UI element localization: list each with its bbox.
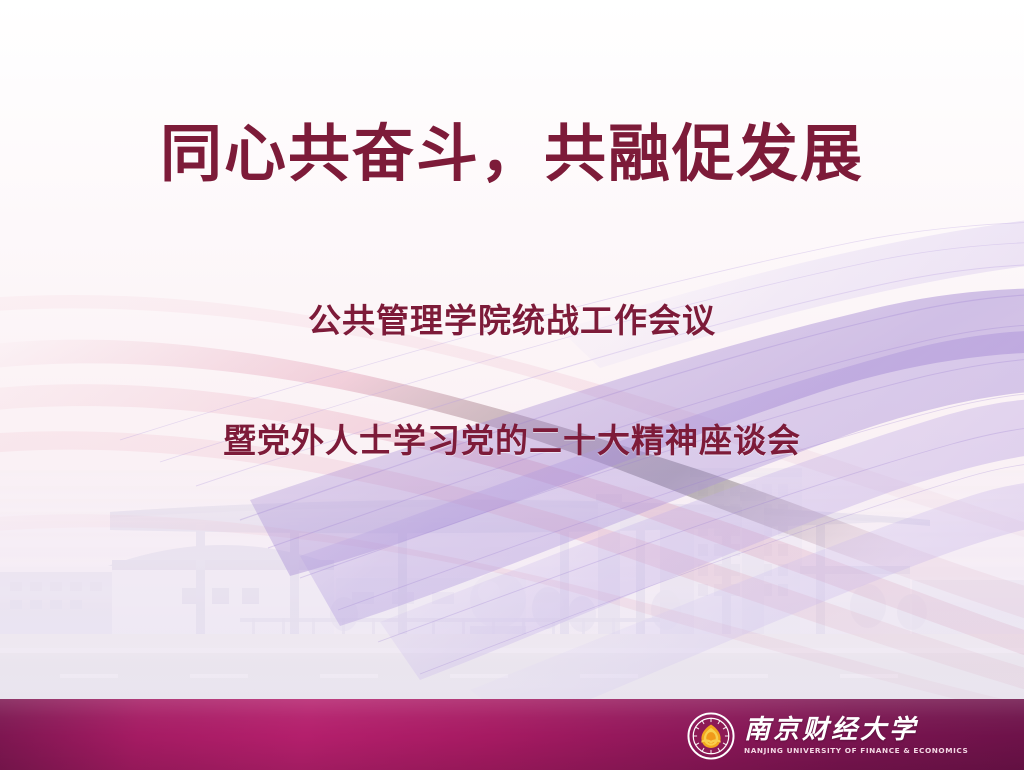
- university-logo: 南京财经大学 NANJING UNIVERSITY OF FINANCE & E…: [687, 709, 964, 763]
- purple-ribbon-decoration: [0, 0, 1024, 770]
- subtitle-secondary: 暨党外人士学习党的二十大精神座谈会: [0, 414, 1024, 462]
- logo-wordmark: 南京财经大学 NANJING UNIVERSITY OF FINANCE & E…: [744, 717, 964, 754]
- logo-name-english: NANJING UNIVERSITY OF FINANCE & ECONOMIC…: [744, 747, 968, 754]
- rose-ribbon-decoration: [0, 0, 1024, 770]
- presentation-slide: 同心共奋斗，共融促发展 公共管理学院统战工作会议 暨党外人士学习党的二十大精神座…: [0, 0, 1024, 770]
- university-seal-icon: [687, 712, 735, 760]
- campus-photo-background: [0, 0, 1024, 770]
- page-title: 同心共奋斗，共融促发展: [0, 118, 1024, 189]
- subtitle-primary: 公共管理学院统战工作会议: [0, 294, 1024, 342]
- logo-name-chinese: 南京财经大学: [744, 717, 964, 743]
